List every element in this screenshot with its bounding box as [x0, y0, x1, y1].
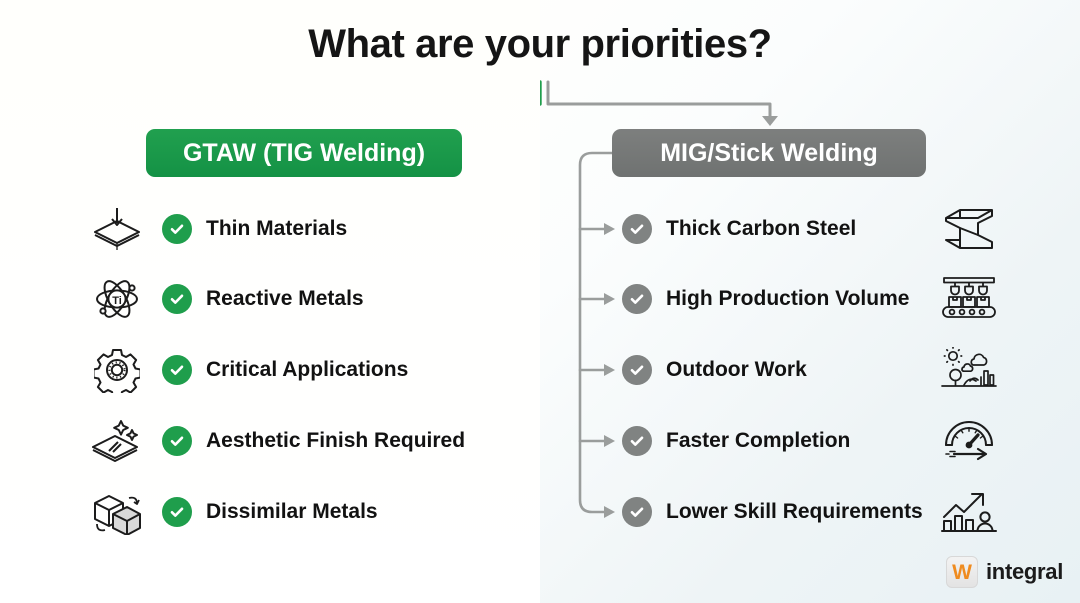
list-item[interactable]: Critical Applications	[86, 347, 408, 393]
gear-icon	[86, 347, 148, 393]
right-item-glyph-row	[938, 347, 1000, 393]
list-item-label: Thick Carbon Steel	[666, 217, 856, 241]
check-badge-icon	[622, 284, 652, 314]
list-item[interactable]: Outdoor Work	[622, 347, 807, 393]
list-item[interactable]: Ti Reactive Metals	[86, 276, 364, 322]
list-item[interactable]: Faster Completion	[622, 418, 850, 464]
list-item-label: Aesthetic Finish Required	[206, 429, 465, 453]
infographic-canvas: What are your priorities? GTAW (TIG Weld…	[0, 0, 1080, 603]
right-branch-header[interactable]: MIG/Stick Welding	[612, 129, 926, 177]
title-to-right-connector	[548, 82, 770, 120]
left-connector-arrowhead	[297, 116, 313, 126]
list-item-label: Faster Completion	[666, 429, 850, 453]
thin-sheet-arrow-icon	[86, 206, 148, 252]
check-badge-icon	[162, 284, 192, 314]
check-badge-icon	[162, 214, 192, 244]
list-item[interactable]: Dissimilar Metals	[86, 489, 378, 535]
list-item-label: Outdoor Work	[666, 358, 807, 382]
list-item-label: Reactive Metals	[206, 287, 364, 311]
list-item-label: Thin Materials	[206, 217, 347, 241]
right-branch-lines	[580, 229, 604, 441]
list-item[interactable]: Aesthetic Finish Required	[86, 418, 465, 464]
right-item-glyph-row	[938, 489, 1000, 535]
list-item[interactable]: Lower Skill Requirements	[622, 489, 923, 535]
right-item-glyph-row	[938, 276, 1000, 322]
conveyor-line-icon	[938, 276, 1000, 322]
list-item[interactable]: Thick Carbon Steel	[622, 206, 856, 252]
i-beam-icon	[938, 206, 1000, 252]
right-spine	[580, 153, 612, 512]
outdoor-scene-icon	[938, 347, 1000, 393]
page-title: What are your priorities?	[0, 22, 1080, 67]
list-item[interactable]: High Production Volume	[622, 276, 909, 322]
brand-logo[interactable]: W integral	[946, 556, 1063, 588]
check-badge-icon	[622, 214, 652, 244]
left-branch-lines	[58, 229, 76, 441]
list-item-label: Dissimilar Metals	[206, 500, 378, 524]
list-item-label: High Production Volume	[666, 287, 909, 311]
logo-text: integral	[986, 559, 1063, 585]
check-badge-icon	[162, 355, 192, 385]
speedometer-arrow-icon	[938, 418, 1000, 464]
list-item-label: Lower Skill Requirements	[666, 500, 923, 524]
check-badge-icon	[162, 426, 192, 456]
right-connector-arrowhead	[762, 116, 778, 126]
titanium-atom-icon: Ti	[86, 276, 148, 322]
left-branch-header[interactable]: GTAW (TIG Welding)	[146, 129, 462, 177]
check-badge-icon	[622, 426, 652, 456]
check-badge-icon	[162, 497, 192, 527]
check-badge-icon	[622, 497, 652, 527]
growth-chart-person-icon	[938, 489, 1000, 535]
svg-text:Ti: Ti	[112, 295, 122, 307]
list-item[interactable]: Thin Materials	[86, 206, 347, 252]
title-to-left-connector	[305, 82, 540, 120]
dissimilar-blocks-icon	[86, 489, 148, 535]
check-badge-icon	[622, 355, 652, 385]
right-item-glyph-row	[938, 418, 1000, 464]
logo-mark-icon: W	[946, 556, 978, 588]
list-item-label: Critical Applications	[206, 358, 408, 382]
sparkle-sheet-icon	[86, 418, 148, 464]
right-branch-arrowheads	[604, 223, 615, 518]
right-item-glyph-row	[938, 206, 1000, 252]
